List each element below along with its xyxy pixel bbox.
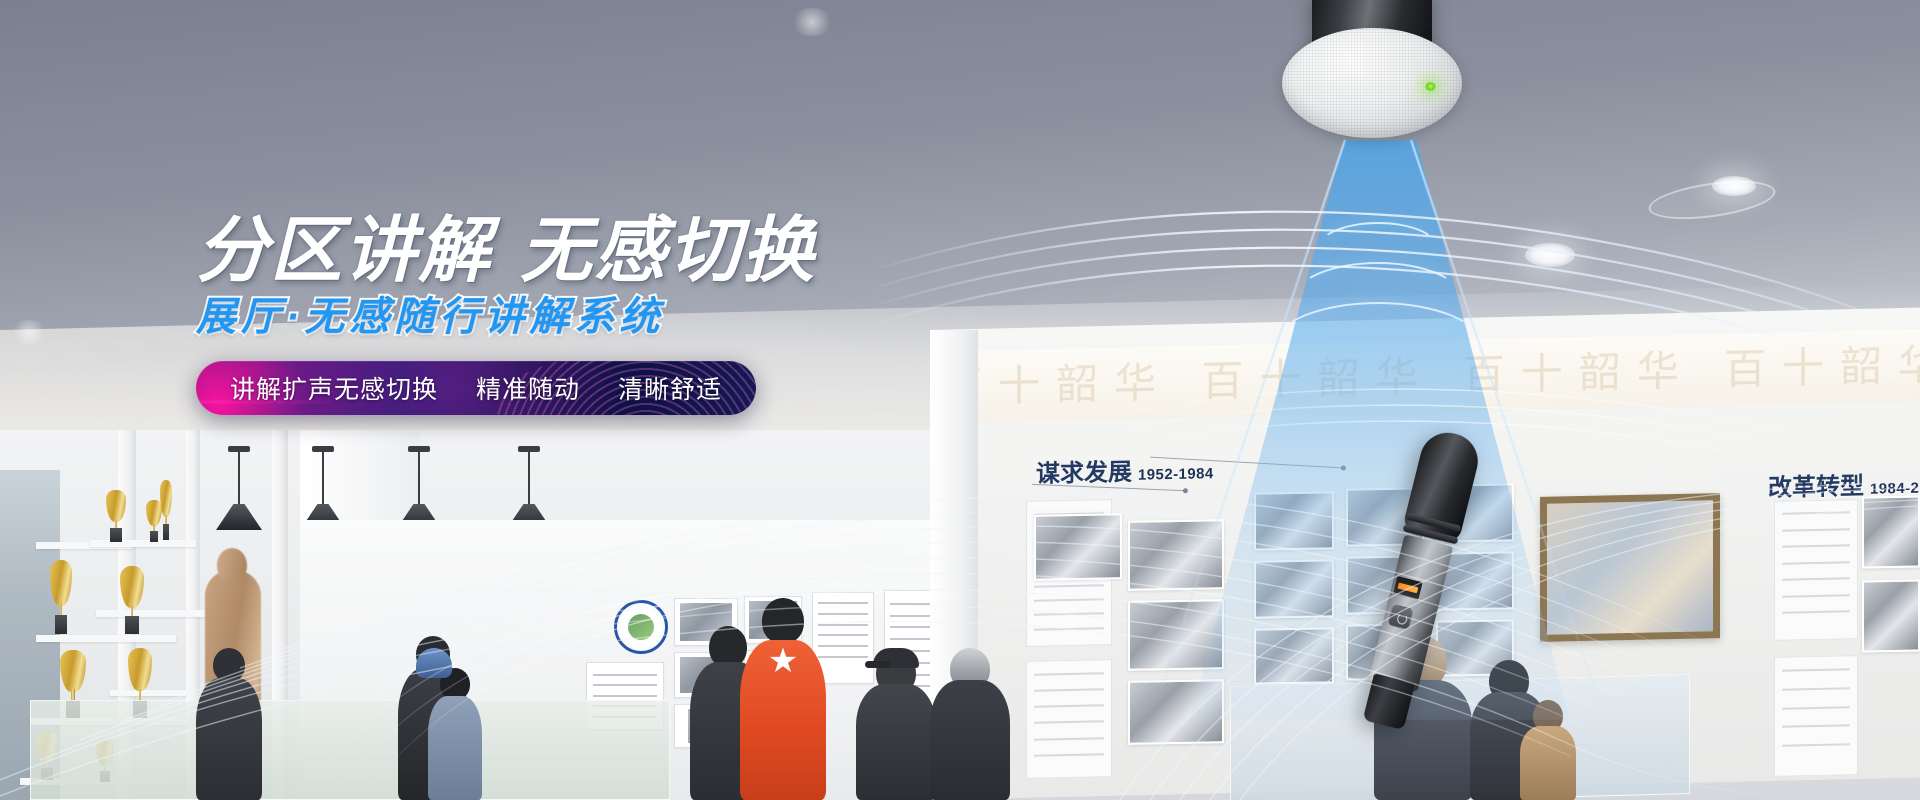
- trophy: [50, 560, 72, 634]
- wall-photo: [1862, 495, 1920, 568]
- ceiling-downlight: [1525, 243, 1575, 267]
- hero-copy: 分区讲解无感切换 展厅·无感随行讲解系统 讲解扩声无感切换 精准随动 清晰舒适: [196, 215, 816, 415]
- visitor-head: [213, 648, 245, 682]
- wall-heading-1-title: 谋求发展: [1036, 459, 1132, 488]
- feature-pill-item-1: 讲解扩声无感切换: [230, 370, 438, 406]
- school-emblem: [614, 600, 668, 654]
- wall-text-block: [1026, 659, 1112, 779]
- mic-battery-cap: [1363, 673, 1415, 730]
- wall-text-block: [1774, 655, 1858, 777]
- visitor-body: [428, 696, 482, 800]
- hero-headline-part2: 无感切换: [520, 211, 816, 291]
- bokeh-dot: [790, 8, 834, 36]
- feature-pill-bar: 讲解扩声无感切换 精准随动 清晰舒适: [196, 361, 756, 415]
- visitor-body: [196, 678, 262, 800]
- wall-photo: [1034, 513, 1122, 581]
- wall-heading-2-title: 改革转型: [1768, 473, 1864, 502]
- visitor-elderly: [930, 648, 1010, 800]
- visitor-orange-vest: ★: [740, 598, 826, 800]
- visitor-with-beanie: [414, 648, 454, 694]
- visitor-head: [762, 598, 804, 644]
- trophy: [106, 490, 126, 542]
- trophy-shelf: [96, 610, 216, 617]
- wall-heading-1-years: 1952-1984: [1138, 466, 1214, 484]
- trophy: [120, 566, 144, 634]
- hero-headline-part1: 分区讲解: [196, 211, 492, 291]
- visitor: [196, 648, 262, 800]
- feature-pill-item-3: 清晰舒适: [618, 370, 722, 406]
- hero-subheadline: 展厅·无感随行讲解系统: [196, 295, 816, 339]
- left-display-case: [30, 700, 670, 800]
- wall-heading-1: 谋求发展1952-1984: [1036, 450, 1214, 489]
- visitor-body: [1520, 726, 1576, 800]
- feature-pill-item-2: 精准随动: [476, 370, 580, 406]
- sound-wave-arc: [1273, 302, 1483, 390]
- visitor-body: [930, 680, 1010, 800]
- wall-photo: [1128, 519, 1224, 591]
- framed-artwork: [1540, 493, 1720, 642]
- bokeh-dot: [10, 320, 48, 344]
- vest-star-logo: ★: [768, 644, 798, 678]
- trophy: [160, 480, 172, 540]
- pendant-lamp: [216, 452, 262, 532]
- beanie-hat: [416, 648, 452, 678]
- ceiling-speaker: [1282, 0, 1462, 173]
- wall-text-block: [1774, 499, 1858, 641]
- baseball-cap: [873, 648, 919, 668]
- hero-banner: 百十韶华 百十韶华 百十韶华 百十韶华 百十韶华 百十韶华 百十韶华 谋求发展1…: [0, 0, 1920, 800]
- speaker-status-led: [1425, 82, 1436, 91]
- visitor-body: [856, 684, 936, 800]
- hero-headline: 分区讲解无感切换: [196, 215, 816, 287]
- wall-photo: [1862, 579, 1920, 652]
- visitor-with-cap: [856, 652, 936, 800]
- trophy-shelf: [36, 635, 176, 642]
